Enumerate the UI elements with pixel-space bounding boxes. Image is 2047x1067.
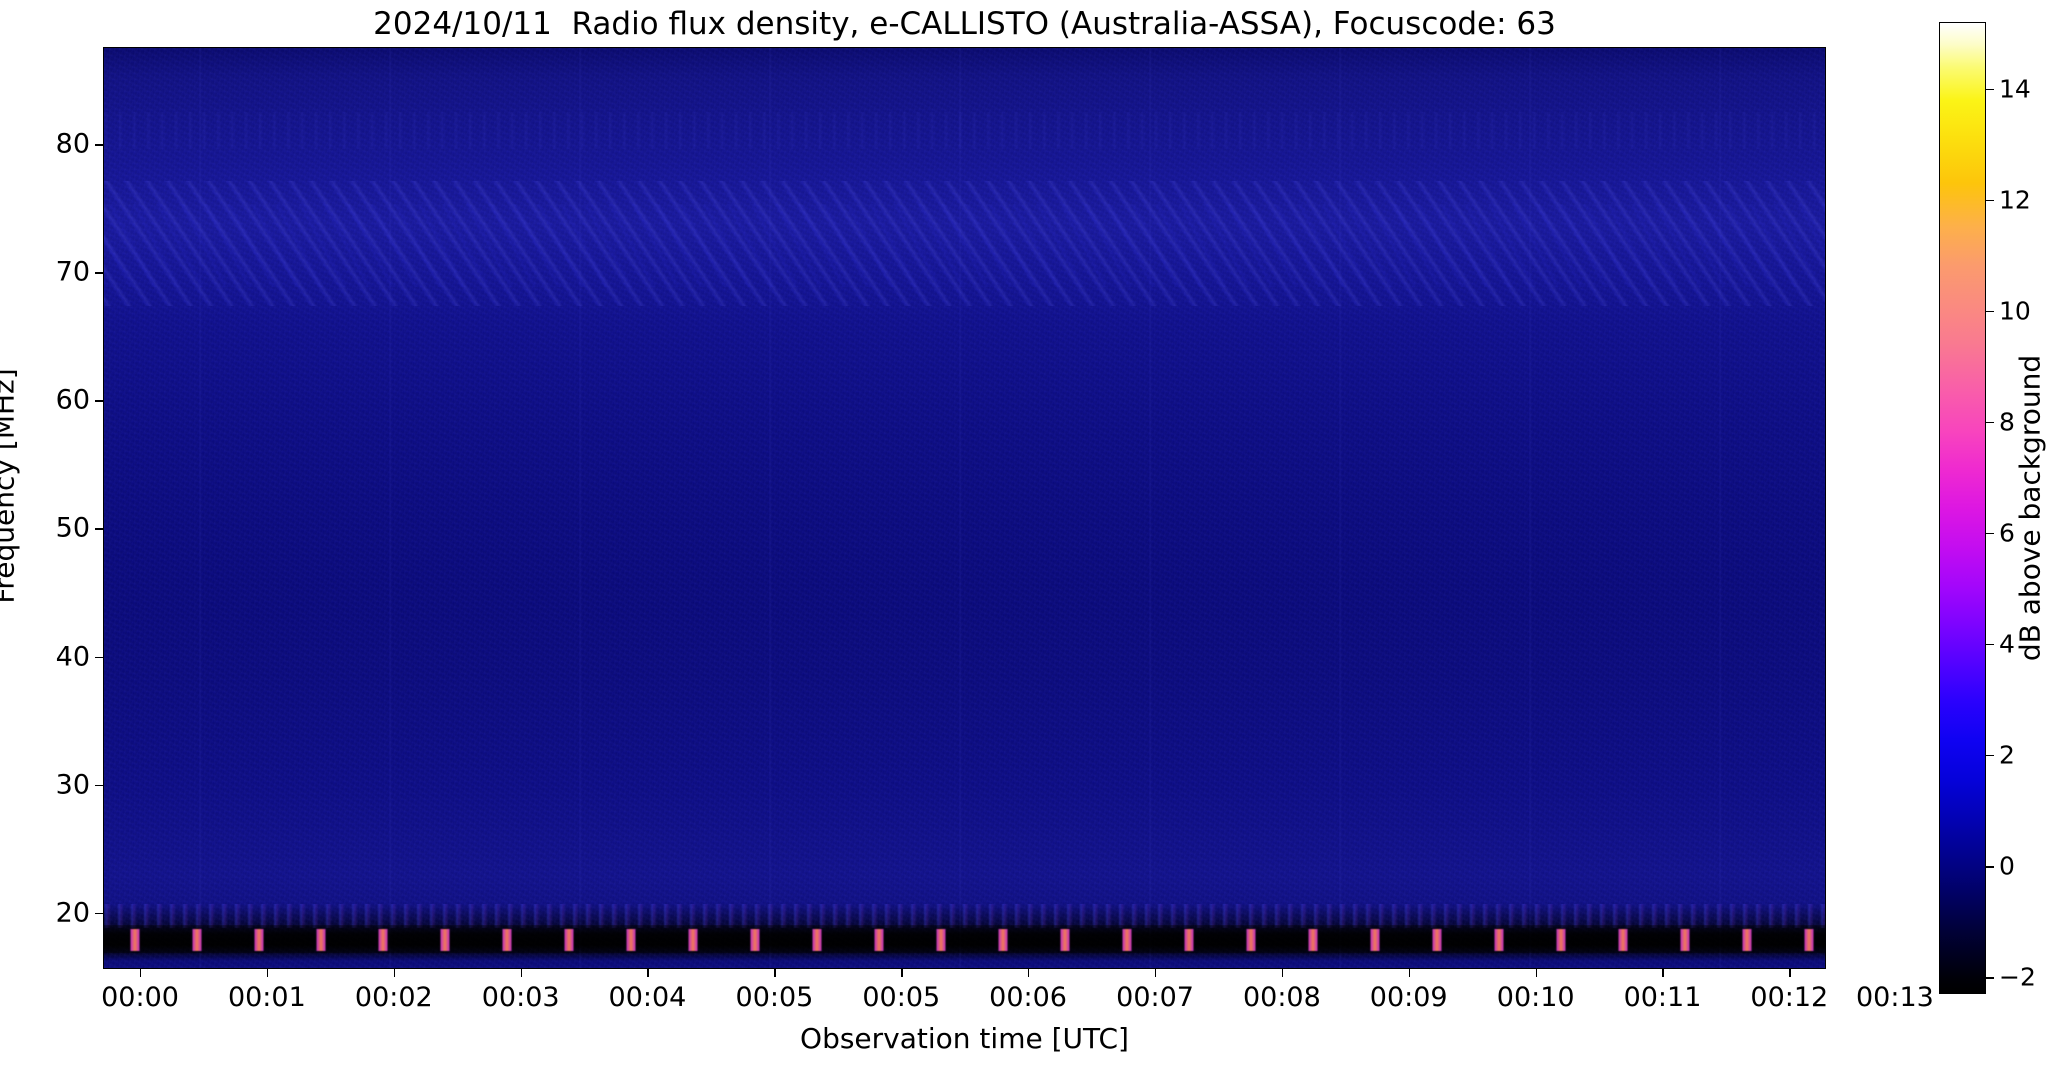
y-tick-label: 80	[56, 129, 90, 160]
colorbar-label: dB above background	[2014, 355, 2047, 661]
colorbar-tick-mark	[1986, 89, 1994, 90]
y-tick-mark	[95, 400, 103, 401]
colorbar-gradient	[1939, 22, 1986, 994]
colorbar-tick-mark	[1986, 644, 1994, 645]
colorbar-tick-label: 0	[1999, 852, 2015, 881]
x-tick-mark	[521, 969, 522, 977]
x-tick-mark	[1409, 969, 1410, 977]
x-tick-mark	[267, 969, 268, 977]
x-tick-label: 00:05	[862, 982, 940, 1013]
x-tick-mark	[901, 969, 902, 977]
x-tick-label: 00:01	[228, 982, 306, 1013]
x-tick-label: 00:02	[355, 982, 433, 1013]
x-tick-mark	[140, 969, 141, 977]
colorbar-tick-mark	[1986, 200, 1994, 201]
y-tick-mark	[95, 657, 103, 658]
x-tick-mark	[774, 969, 775, 977]
x-tick-mark	[1536, 969, 1537, 977]
y-axis-label: Frequency [MHz]	[0, 390, 21, 625]
x-tick-mark	[394, 969, 395, 977]
y-tick-mark	[95, 785, 103, 786]
y-axis-label-text: Frequency [MHz]	[0, 368, 21, 603]
feature-faint-band-80mhz	[104, 112, 1825, 149]
y-tick-mark	[95, 272, 103, 273]
x-tick-label: 00:03	[482, 982, 560, 1013]
colorbar-tick-mark	[1986, 755, 1994, 756]
colorbar-tick-label: 2	[1999, 741, 2015, 770]
colorbar-tick-mark	[1986, 422, 1994, 423]
colorbar-tick-mark	[1986, 866, 1994, 867]
x-tick-label: 00:13	[1856, 982, 1934, 1013]
colorbar[interactable]: 14121086420−2	[1939, 22, 1986, 994]
y-tick-label: 40	[56, 641, 90, 672]
page-title: 2024/10/11 Radio flux density, e-CALLIST…	[103, 4, 1826, 44]
colorbar-tick-label: 14	[1999, 74, 2031, 103]
x-tick-label: 00:09	[1370, 982, 1448, 1013]
y-tick-mark	[95, 913, 103, 914]
x-tick-mark	[1155, 969, 1156, 977]
y-tick-label: 50	[56, 513, 90, 544]
y-tick-label: 70	[56, 257, 90, 288]
colorbar-tick-mark	[1986, 533, 1994, 534]
spectrogram-plot-area[interactable]	[103, 47, 1826, 969]
x-tick-mark	[1028, 969, 1029, 977]
colorbar-tick-mark	[1986, 977, 1994, 978]
x-tick-label: 00:10	[1497, 982, 1575, 1013]
feature-periodic-rfi-spots	[104, 929, 1825, 951]
spectrogram-figure: 2024/10/11 Radio flux density, e-CALLIST…	[0, 0, 2047, 1067]
colorbar-tick-label: −2	[1999, 963, 2036, 992]
x-tick-label: 00:05	[736, 982, 814, 1013]
colorbar-tick-mark	[1986, 311, 1994, 312]
x-tick-label: 00:06	[989, 982, 1067, 1013]
x-tick-label: 00:00	[101, 982, 179, 1013]
x-axis-label: Observation time [UTC]	[103, 1022, 1826, 1055]
x-tick-label: 00:08	[1243, 982, 1321, 1013]
x-tick-mark	[647, 969, 648, 977]
x-tick-mark	[1662, 969, 1663, 977]
y-tick-mark	[95, 528, 103, 529]
feature-drifting-rfi-stripes-secondary	[104, 204, 1825, 287]
x-tick-label: 00:04	[609, 982, 687, 1013]
x-tick-label: 00:07	[1116, 982, 1194, 1013]
y-tick-label: 30	[56, 769, 90, 800]
x-tick-label: 00:11	[1624, 982, 1702, 1013]
x-tick-label: 00:12	[1750, 982, 1828, 1013]
colorbar-tick-label: 10	[1999, 296, 2031, 325]
x-tick-mark	[1282, 969, 1283, 977]
x-tick-mark	[1789, 969, 1790, 977]
y-tick-label: 60	[56, 385, 90, 416]
y-tick-label: 20	[56, 897, 90, 928]
colorbar-tick-label: 12	[1999, 185, 2031, 214]
y-tick-mark	[95, 144, 103, 145]
